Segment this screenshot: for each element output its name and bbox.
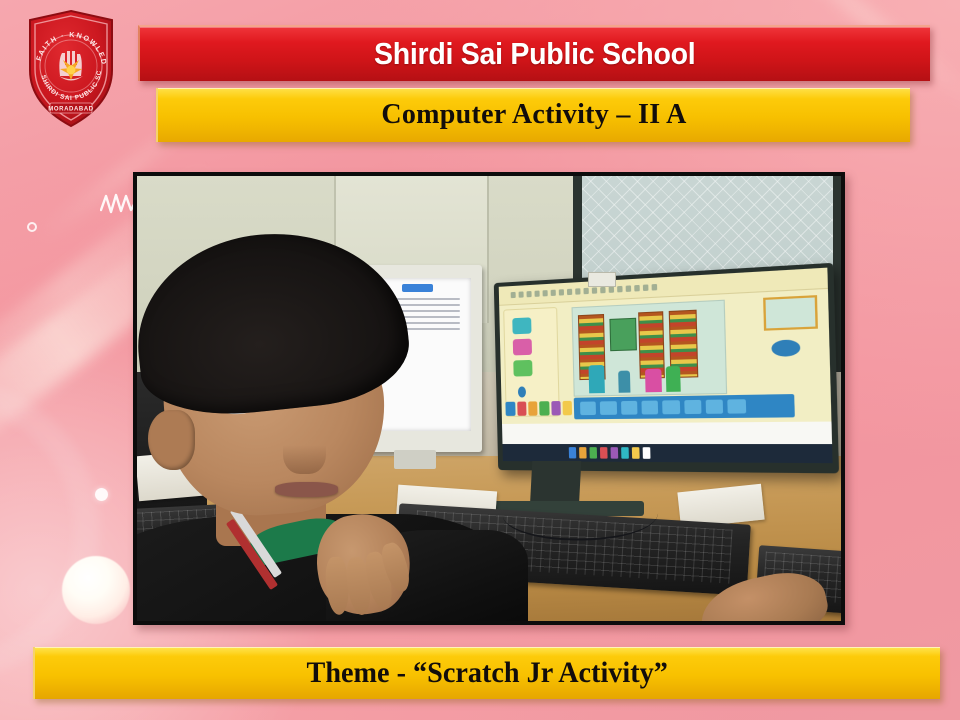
scratchjr-screen	[499, 267, 833, 462]
page-title: Shirdi Sai Public School	[374, 36, 695, 72]
white-ring-icon	[27, 222, 37, 232]
stage-character	[645, 368, 662, 392]
page-thumbnail	[763, 295, 818, 330]
svg-text:MORADABAD: MORADABAD	[48, 107, 93, 113]
activity-photo	[133, 172, 845, 625]
activity-title-banner: Computer Activity – II A	[156, 88, 910, 142]
school-crest-logo: FAITH · KNOWLEDGE · DUTY SHIRDI SAI PUBL…	[24, 8, 118, 130]
nose	[283, 426, 325, 474]
stage-backdrop-panel	[609, 318, 636, 351]
glow-sphere-icon	[62, 556, 130, 624]
windows-taskbar	[503, 443, 833, 463]
school-title-banner: Shirdi Sai Public School	[138, 25, 930, 81]
screen-lower-area	[502, 422, 832, 444]
main-monitor	[494, 263, 839, 473]
photo-content	[137, 176, 841, 621]
mouth	[275, 482, 338, 496]
monitor-label	[588, 272, 616, 288]
add-page-icon	[771, 339, 800, 357]
stage-character	[588, 364, 605, 393]
theme-banner: Theme - “Scratch Jr Activity”	[33, 647, 940, 699]
script-strip	[574, 394, 795, 419]
student	[137, 234, 545, 621]
theme-text: Theme - “Scratch Jr Activity”	[307, 656, 668, 690]
scratchjr-stage	[571, 300, 727, 397]
white-dot-icon	[95, 488, 108, 501]
student-ear	[148, 410, 194, 470]
activity-title: Computer Activity – II A	[381, 99, 686, 131]
stage-character	[618, 371, 630, 393]
stage-character	[666, 366, 680, 392]
